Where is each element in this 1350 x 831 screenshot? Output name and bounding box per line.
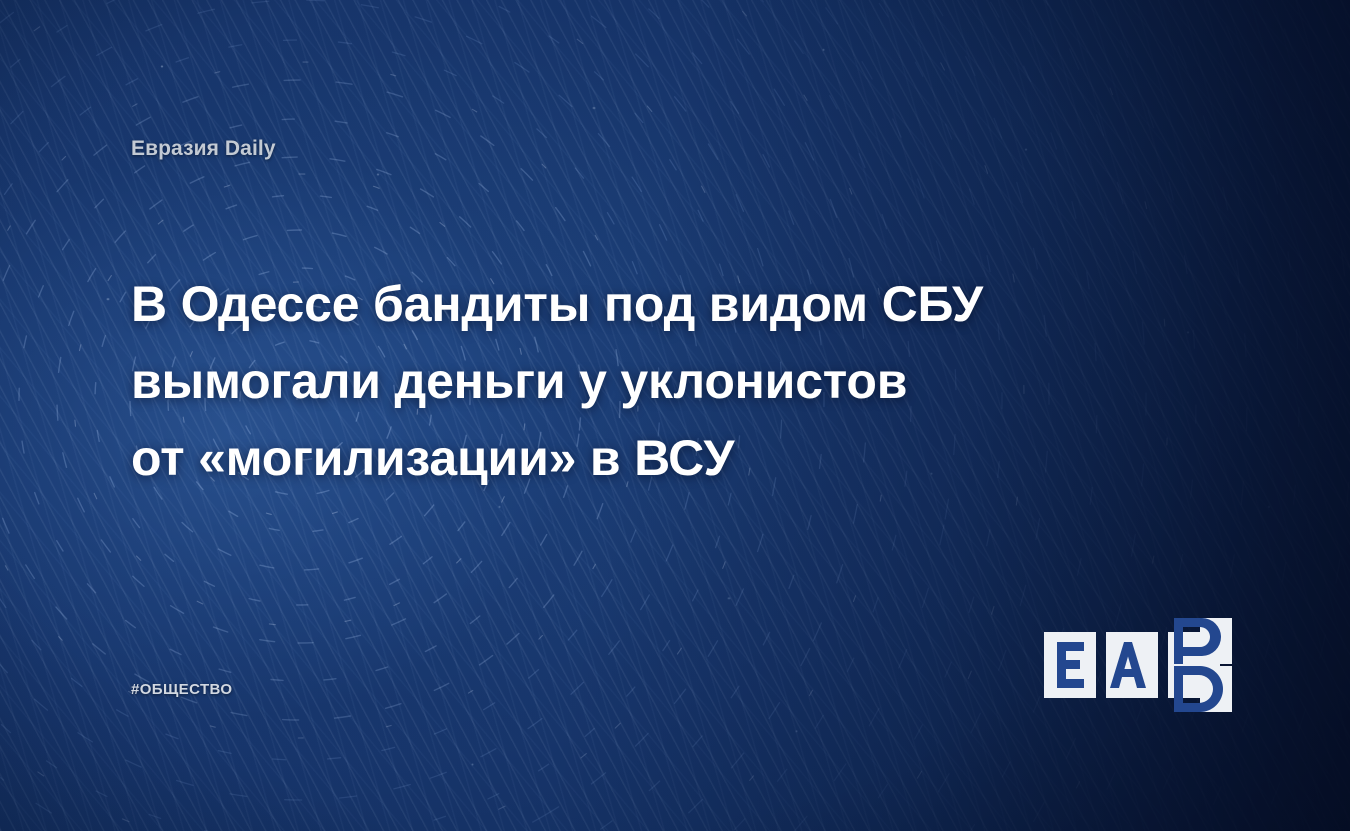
headline-line-1: В Одессе бандиты под видом СБУ (131, 266, 1091, 343)
logo-letter-d-lower (1174, 666, 1223, 712)
logo-letter-d-upper (1174, 618, 1221, 664)
logo-letterforms (1044, 632, 1220, 698)
logo-letter-e (1057, 642, 1084, 688)
news-share-card: Евразия Daily В Одессе бандиты под видом… (0, 0, 1350, 831)
headline-line-3: от «могилизации» в ВСУ (131, 420, 1091, 497)
category-tag[interactable]: #ОБЩЕСТВО (131, 681, 232, 698)
logo-letter-a (1110, 642, 1146, 688)
brand-name: Евразия Daily (131, 137, 276, 161)
headline-line-2: вымогали деньги у уклонистов (131, 343, 1091, 420)
page-title: В Одессе бандиты под видом СБУ вымогали … (131, 266, 1091, 497)
card-content: Евразия Daily В Одессе бандиты под видом… (0, 0, 1350, 831)
ead-logo (1044, 632, 1220, 698)
